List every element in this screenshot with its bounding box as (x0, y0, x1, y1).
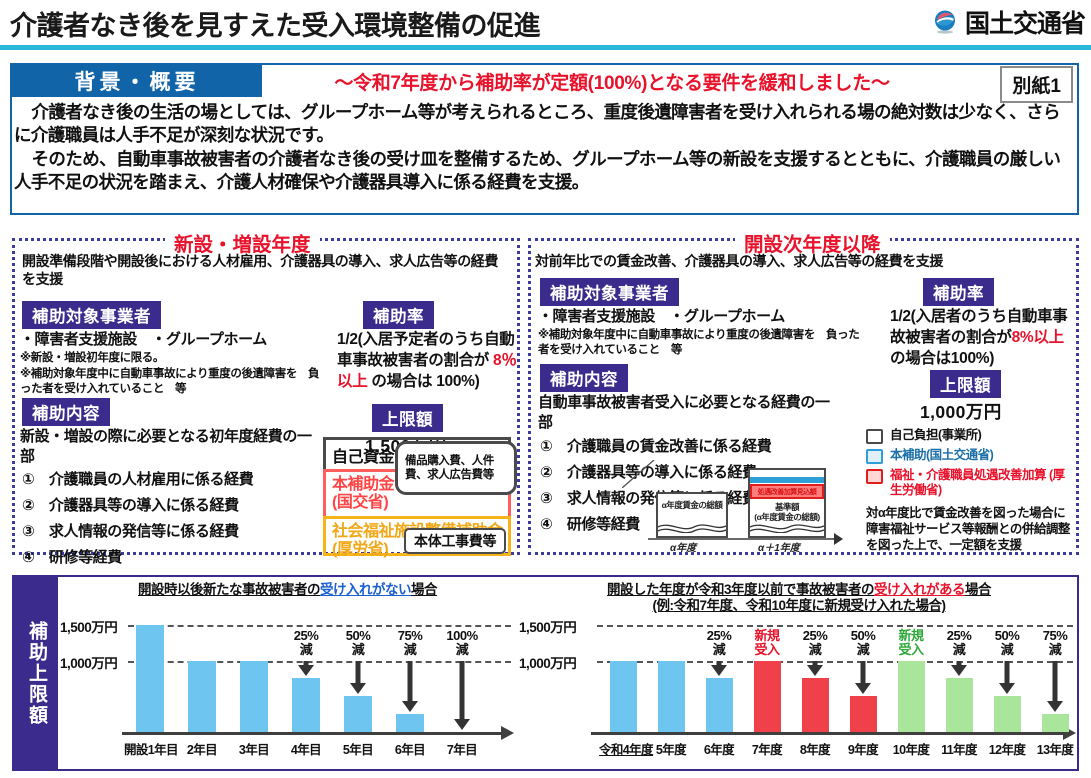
right-rate-highlight: 8%以上 (1012, 329, 1064, 346)
decrease-arrow-12年度 (997, 661, 1017, 695)
left-content-lead: 新設・増設の際に必要となる初年度経費の一部 (20, 427, 315, 467)
y-tick-label-1000: 1,000万円 (60, 652, 117, 672)
subsidy-cap-chart-section: 補助上限額 開設時以後新たな事故被害者の受け入れがない場合 1,500万円1,0… (12, 575, 1079, 771)
ministry-name: 国土交通省 (965, 4, 1085, 40)
legend-item-self: 自己負担(事業所) (866, 428, 1074, 444)
chip-target-business-right: 補助対象事業者 (540, 278, 679, 306)
background-body: 介護者なき後の生活の場としては、グループホーム等が考えられるところ、重度後遺障害… (14, 101, 1074, 195)
annotation-8年度: 25%減 (791, 629, 839, 658)
annotation-6年目: 75%減 (384, 629, 436, 658)
x-tick-令和4年度: 令和4年度 (599, 739, 647, 758)
chart-with-new-intake: 開設した年度が令和3年度以前で事故被害者の受け入れがある場合 (例:令和7年度、… (519, 577, 1079, 769)
left-note-2: ※補助対象年度中に自動車事故により重度の後遺障害を 負った者を受け入れていること… (20, 367, 325, 396)
wage-col-alpha-plus-1: 処遇改善加算見込額 基準額 (α年度賃金の総額) (748, 468, 826, 538)
decrease-arrow-13年度 (1045, 661, 1065, 713)
wage-diagram-axis-arrow (834, 533, 843, 545)
chip-cap-left: 上限額 (372, 404, 443, 432)
wage-xlabel-alpha-plus-1: α＋1年度 (758, 539, 800, 554)
left-note-1: ※新設・増設初年度に限る。 (20, 351, 320, 366)
background-tab: 背景・概要 (12, 65, 262, 97)
wage-xlabel-alpha: α年度 (670, 539, 696, 554)
bar-令和4年度 (610, 661, 637, 733)
legend-note: 対α年度比で賃金改善を図った場合に障害福祉サービス等報酬との併給調整を図った上で… (866, 505, 1074, 554)
wage-col-alpha-caption: α年度賃金の総額 (658, 501, 726, 511)
x-axis (591, 732, 1063, 735)
right-content-item-1: ① 介護職員の賃金改善に係る経費 (540, 437, 840, 457)
x-tick-2年目: 2年目 (176, 739, 228, 758)
chip-rate-right: 補助率 (923, 278, 994, 306)
chart-a-plot: 1,500万円1,000万円開設1年目2年目3年目4年目5年目6年目7年目25%… (60, 577, 515, 769)
right-note-1: ※補助対象年度中に自動車事故により重度の後遺障害を 負った者を受け入れていること… (538, 328, 868, 357)
wage-seg-improvement-label: 処遇改善加算見込額 (758, 487, 817, 497)
left-target-line: ・障害者支援施設 ・グループホーム (20, 330, 320, 350)
annotation-4年目: 25%減 (280, 629, 332, 658)
chart-side-label: 補助上限額 (14, 577, 58, 769)
annotation-5年目: 50%減 (332, 629, 384, 658)
bar-9年度 (850, 696, 877, 732)
decrease-arrow-6年度 (709, 661, 729, 677)
wage-diagram-legend: 自己負担(事業所) 本補助(国土交通省) 福祉・介護職員処遇改善加算 (厚生労働… (866, 428, 1074, 553)
legend-label-mhlw: 福祉・介護職員処遇改善加算 (厚生労働省) (890, 468, 1074, 499)
wage-col-b-caption: 基準額 (α年度賃金の総額) (750, 503, 824, 523)
chip-rate-left: 補助率 (363, 301, 434, 329)
left-rate-text: 1/2(入居予定者のうち自動車事故被害者の割合が 8％以上 の場合は 100%) (337, 330, 517, 393)
header-divider (0, 45, 1091, 50)
legend-label-self: 自己負担(事業所) (890, 428, 981, 443)
x-tick-5年度: 5年度 (647, 739, 695, 758)
decrease-arrow-6年目 (400, 661, 420, 713)
right-rate-text: 1/2(入居者のうち自動車事故被害者の割合が8%以上の場合は100%) (890, 307, 1075, 370)
bar-11年度 (946, 678, 973, 732)
x-tick-6年度: 6年度 (695, 739, 743, 758)
chip-content-left: 補助内容 (22, 398, 110, 426)
chip-target-business-left: 補助対象事業者 (22, 301, 161, 329)
x-tick-4年目: 4年目 (280, 739, 332, 758)
annotation-12年度: 50%減 (983, 629, 1031, 658)
mlit-logo-icon (932, 9, 958, 35)
bar-8年度 (802, 678, 829, 732)
bar-6年目 (396, 714, 424, 732)
bar-10年度 (898, 661, 925, 733)
x-tick-7年度: 7年度 (743, 739, 791, 758)
annotation-10年度: 新規受入 (887, 629, 935, 658)
background-paragraph-2: そのため、自動車事故被害者の介護者なき後の受け皿を整備するため、グループホーム等… (14, 148, 1074, 194)
annotation-13年度: 75%減 (1031, 629, 1079, 658)
funding-main-label: 本補助金 (国交省) (332, 476, 394, 512)
bar-開設1年目 (136, 625, 164, 732)
chip-cap-right: 上限額 (930, 370, 1001, 398)
x-tick-11年度: 11年度 (935, 739, 983, 758)
legend-item-mhlw: 福祉・介護職員処遇改善加算 (厚生労働省) (866, 468, 1074, 499)
panel-following-years-lead: 対前年比での賃金改善、介護器具の導入、求人広告等の経費を支援 (535, 252, 1065, 270)
ministry-logo: 国土交通省 (932, 4, 1085, 40)
left-content-item-4: ④ 研修等経費 (22, 548, 322, 568)
annotation-7年度: 新規受入 (743, 629, 791, 658)
x-tick-7年目: 7年目 (436, 739, 488, 758)
left-content-item-2: ② 介護器具等の導入に係る経費 (22, 496, 322, 516)
chip-content-right: 補助内容 (540, 364, 628, 392)
x-tick-5年目: 5年目 (332, 739, 384, 758)
x-tick-9年度: 9年度 (839, 739, 887, 758)
bar-2年目 (188, 661, 216, 733)
right-rate-post: の場合は100%) (890, 350, 994, 367)
left-rate-pre: 1/2(入居予定者のうち自動車事故被害者の割合が (337, 331, 515, 369)
legend-swatch-mlit (866, 449, 883, 464)
annotation-11年度: 25%減 (935, 629, 983, 658)
x-axis (122, 732, 501, 735)
wage-improvement-diagram: α年度賃金の総額 処遇改善加算見込額 基準額 (α年度賃金の総額) α年度 α＋… (648, 466, 836, 550)
decrease-arrow-11年度 (949, 661, 969, 677)
left-content-item-3: ③ 求人情報の発信等に係る経費 (22, 522, 322, 542)
funding-self-label: 自己資金 (332, 443, 394, 467)
page-title: 介護者なき後を見すえた受入環境整備の促進 (10, 4, 540, 43)
bar-7年度 (754, 661, 781, 733)
legend-swatch-self (866, 429, 883, 444)
x-axis-arrow (501, 726, 514, 740)
x-tick-13年度: 13年度 (1031, 739, 1079, 758)
decrease-arrow-9年度 (853, 661, 873, 695)
background-banner-text: ～令和7年度から補助率が定額(100%)となる要件を緩和しました～ (334, 68, 889, 95)
x-tick-10年度: 10年度 (887, 739, 935, 758)
decrease-arrow-4年目 (296, 661, 316, 677)
bar-4年目 (292, 678, 320, 732)
x-tick-開設1年目: 開設1年目 (124, 739, 176, 758)
bar-12年度 (994, 696, 1021, 732)
funding-works-chip: 本体工事費等 (404, 528, 506, 554)
gridline-1500 (597, 625, 1073, 627)
decrease-arrow-8年度 (805, 661, 825, 677)
legend-label-mlit: 本補助(国土交通省) (890, 448, 993, 463)
left-rate-post: の場合は 100%) (367, 373, 479, 390)
right-cap-value: 1,000万円 (920, 399, 1002, 424)
x-tick-8年度: 8年度 (791, 739, 839, 758)
x-tick-3年目: 3年目 (228, 739, 280, 758)
gridline-1500 (128, 625, 511, 627)
wage-col-alpha: α年度賃金の総額 (656, 492, 728, 538)
annotation-7年目: 100%減 (436, 629, 488, 658)
y-tick-label-1000: 1,000万円 (519, 652, 576, 672)
chart-side-label-text: 補助上限額 (26, 621, 46, 726)
annotation-9年度: 50%減 (839, 629, 887, 658)
bar-5年目 (344, 696, 372, 732)
chart-b-plot: 1,500万円1,000万円令和4年度5年度6年度7年度8年度9年度10年度11… (519, 577, 1079, 769)
left-content-item-1: ① 介護職員の人材雇用に係る経費 (22, 470, 322, 490)
wage-seg-improvement: 処遇改善加算見込額 (750, 484, 824, 499)
wage-seg-subsidy (750, 476, 824, 483)
bar-6年度 (706, 678, 733, 732)
background-banner: ～令和7年度から補助率が定額(100%)となる要件を緩和しました～ (262, 65, 962, 97)
legend-item-mlit: 本補助(国土交通省) (866, 448, 1074, 464)
slide-page: 介護者なき後を見すえた受入環境整備の促進 国土交通省 背景・概要 ～令和7年度か… (0, 0, 1091, 778)
x-tick-12年度: 12年度 (983, 739, 1031, 758)
background-tab-label: 背景・概要 (75, 66, 200, 96)
right-target-line: ・障害者支援施設 ・グループホーム (538, 307, 868, 327)
chart-no-new-intake: 開設時以後新たな事故被害者の受け入れがない場合 1,500万円1,000万円開設… (60, 577, 515, 769)
bar-13年度 (1042, 714, 1069, 732)
attachment-badge: 別紙1 (1000, 66, 1073, 103)
annotation-6年度: 25%減 (695, 629, 743, 658)
y-tick-label-1500: 1,500万円 (60, 616, 117, 636)
panel-new-construction-lead: 開設準備段階や開設後における人材雇用、介護器具の導入、求人広告等の経費を支援 (22, 252, 502, 288)
funding-callout: 備品購入費、人件費、求人広告費等 (395, 441, 517, 495)
page-header: 介護者なき後を見すえた受入環境整備の促進 国土交通省 (0, 0, 1091, 46)
background-paragraph-1: 介護者なき後の生活の場としては、グループホーム等が考えられるところ、重度後遺障害… (14, 101, 1074, 147)
bar-5年度 (658, 661, 685, 733)
x-tick-6年目: 6年目 (384, 739, 436, 758)
right-content-lead: 自動車事故被害者受入に必要となる経費の一部 (538, 393, 838, 433)
bar-3年目 (240, 661, 268, 733)
y-tick-label-1500: 1,500万円 (519, 616, 576, 636)
legend-swatch-mhlw (866, 469, 883, 484)
decrease-arrow-7年目 (452, 661, 472, 731)
decrease-arrow-5年目 (348, 661, 368, 695)
